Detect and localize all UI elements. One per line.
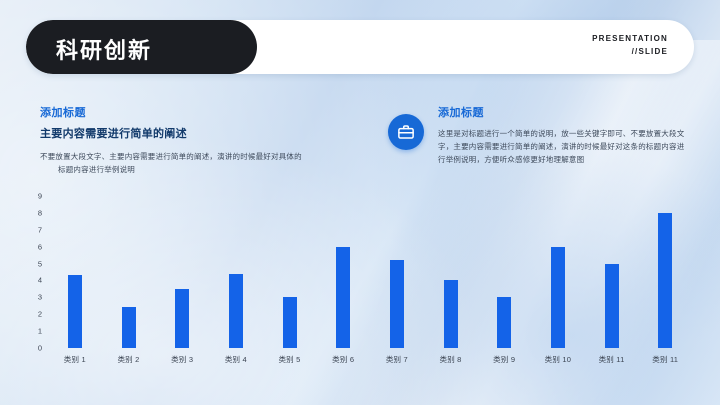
slide: 科研创新 PRESENTATION //SLIDE 添加标题 主要内容需要进行简… bbox=[0, 0, 720, 405]
x-axis-label: 类别 11 bbox=[585, 354, 639, 365]
bar-slot bbox=[155, 196, 209, 348]
y-axis-tick: 0 bbox=[26, 344, 42, 353]
chart-bar bbox=[551, 247, 565, 348]
left-block-body-line1: 不要放置大段文字、主要内容需要进行简单的阐述，演讲的时候最好对具体的 bbox=[40, 150, 322, 163]
chart-bar bbox=[605, 264, 619, 348]
chart-bar bbox=[283, 297, 297, 348]
chart-bar bbox=[68, 275, 82, 348]
chart-plot-area bbox=[48, 196, 692, 348]
bar-slot bbox=[477, 196, 531, 348]
y-axis-tick: 4 bbox=[26, 276, 42, 285]
right-block-title: 添加标题 bbox=[438, 100, 688, 120]
bar-slot bbox=[209, 196, 263, 348]
chart-bar bbox=[658, 213, 672, 348]
x-axis-label: 类别 3 bbox=[155, 354, 209, 365]
header-subtitle-line2: //SLIDE bbox=[592, 45, 668, 58]
chart-bar bbox=[229, 274, 243, 348]
x-axis-label: 类别 8 bbox=[424, 354, 478, 365]
bar-slot bbox=[531, 196, 585, 348]
chart-bar bbox=[390, 260, 404, 348]
left-text-block: 添加标题 主要内容需要进行简单的阐述 不要放置大段文字、主要内容需要进行简单的阐… bbox=[40, 104, 322, 176]
y-axis-tick: 2 bbox=[26, 310, 42, 319]
x-axis-label: 类别 7 bbox=[370, 354, 424, 365]
bar-slot bbox=[48, 196, 102, 348]
left-block-subtitle: 主要内容需要进行简单的阐述 bbox=[40, 125, 322, 141]
header-subtitle: PRESENTATION //SLIDE bbox=[592, 32, 668, 58]
x-axis-label: 类别 9 bbox=[477, 354, 531, 365]
x-axis-label: 类别 5 bbox=[263, 354, 317, 365]
bar-slot bbox=[638, 196, 692, 348]
y-axis-tick: 3 bbox=[26, 293, 42, 302]
bar-slot bbox=[424, 196, 478, 348]
chart-x-axis-labels: 类别 1类别 2类别 3类别 4类别 5类别 6类别 7类别 8类别 9类别 1… bbox=[48, 354, 692, 365]
chart-bar bbox=[497, 297, 511, 348]
bar-slot bbox=[263, 196, 317, 348]
chart-bars bbox=[48, 196, 692, 348]
header-bar: 科研创新 PRESENTATION //SLIDE bbox=[26, 20, 694, 74]
left-block-body-line2: 标题内容进行举例说明 bbox=[40, 163, 322, 176]
bar-slot bbox=[585, 196, 639, 348]
y-axis-tick: 5 bbox=[26, 259, 42, 268]
y-axis-tick: 9 bbox=[26, 192, 42, 201]
bar-slot bbox=[102, 196, 156, 348]
y-axis-tick: 7 bbox=[26, 225, 42, 234]
chart-bar bbox=[122, 307, 136, 348]
chart-bar bbox=[444, 280, 458, 348]
chart-bar bbox=[336, 247, 350, 348]
y-axis-tick: 6 bbox=[26, 242, 42, 251]
x-axis-label: 类别 6 bbox=[316, 354, 370, 365]
chart-y-axis: 0123456789 bbox=[26, 196, 42, 348]
right-text-block: 添加标题 这里是对标题进行一个简单的说明，放一些关键字即可、不要放置大段文字，主… bbox=[388, 100, 688, 166]
y-axis-tick: 8 bbox=[26, 208, 42, 217]
right-text-content: 添加标题 这里是对标题进行一个简单的说明，放一些关键字即可、不要放置大段文字，主… bbox=[438, 100, 688, 166]
page-title: 科研创新 bbox=[56, 33, 152, 65]
x-axis-label: 类别 10 bbox=[531, 354, 585, 365]
x-axis-label: 类别 2 bbox=[102, 354, 156, 365]
bar-slot bbox=[316, 196, 370, 348]
left-block-title: 添加标题 bbox=[40, 104, 322, 120]
bar-chart: 0123456789 类别 1类别 2类别 3类别 4类别 5类别 6类别 7类… bbox=[26, 196, 692, 371]
bar-slot bbox=[370, 196, 424, 348]
right-block-body: 这里是对标题进行一个简单的说明，放一些关键字即可、不要放置大段文字，主要内容需要… bbox=[438, 127, 688, 166]
x-axis-label: 类别 1 bbox=[48, 354, 102, 365]
briefcase-icon bbox=[388, 114, 424, 150]
x-axis-label: 类别 11 bbox=[638, 354, 692, 365]
chart-bar bbox=[175, 289, 189, 348]
x-axis-label: 类别 4 bbox=[209, 354, 263, 365]
header-subtitle-line1: PRESENTATION bbox=[592, 32, 668, 45]
y-axis-tick: 1 bbox=[26, 327, 42, 336]
